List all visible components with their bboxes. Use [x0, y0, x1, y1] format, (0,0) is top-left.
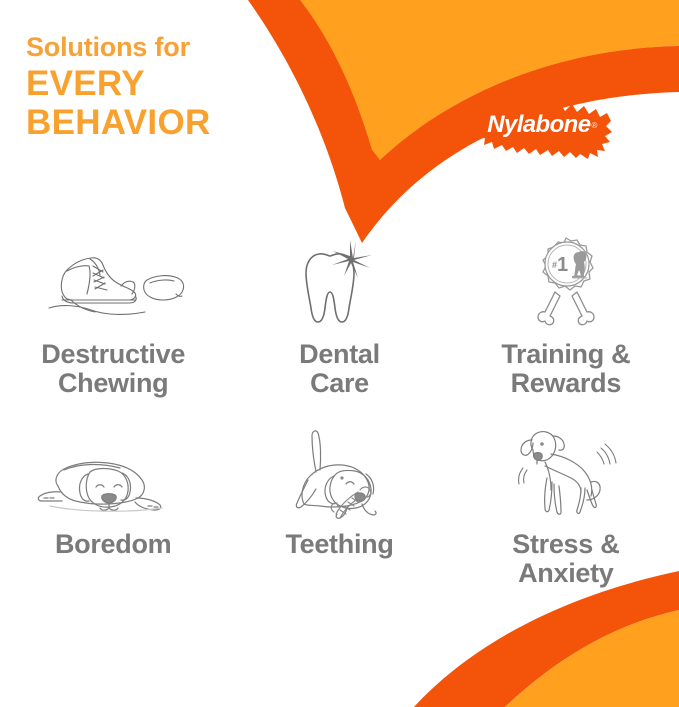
behavior-cell-destructive-chewing: Destructive Chewing [0, 232, 226, 428]
behavior-label-teething: Teething [285, 530, 393, 559]
behavior-cell-dental-care: Dental Care [226, 232, 452, 428]
logo-trademark: ® [591, 121, 596, 130]
bottom-light-swoosh [505, 610, 679, 707]
logo-brand-name: Nylabone [487, 111, 590, 139]
poster-canvas: Solutions for EVERY BEHAVIOR Nylabone® [0, 0, 679, 707]
puppy-chewing-bone-icon [274, 428, 404, 524]
award-rosette-icon: # 1 [511, 232, 621, 332]
behavior-cell-boredom: Boredom [0, 428, 226, 606]
behavior-label-training-rewards: Training & Rewards [501, 340, 630, 398]
behavior-grid: Destructive Chewing Dental Care [0, 232, 679, 606]
nylabone-logo: Nylabone® [466, 88, 618, 160]
behavior-cell-teething: Teething [226, 428, 452, 606]
headline-block: Solutions for EVERY BEHAVIOR [26, 32, 326, 142]
sparkling-tooth-icon [284, 232, 394, 332]
behavior-cell-training-rewards: # 1 Training & Rewards [453, 232, 679, 428]
lying-dog-icon [28, 428, 198, 524]
behavior-label-stress-anxiety: Stress & Anxiety [512, 530, 619, 588]
anxious-dog-icon [501, 428, 631, 524]
badge-number: 1 [557, 254, 568, 276]
behavior-label-destructive-chewing: Destructive Chewing [41, 340, 185, 398]
behavior-label-boredom: Boredom [55, 530, 171, 559]
headline-line-1: Solutions for [26, 32, 326, 63]
headline-line-3: BEHAVIOR [26, 103, 326, 142]
behavior-cell-stress-anxiety: Stress & Anxiety [453, 428, 679, 606]
behavior-label-dental-care: Dental Care [299, 340, 380, 398]
chewed-shoe-icon [33, 232, 193, 332]
logo-wordmark: Nylabone® [466, 89, 618, 161]
headline-line-2: EVERY [26, 64, 326, 103]
